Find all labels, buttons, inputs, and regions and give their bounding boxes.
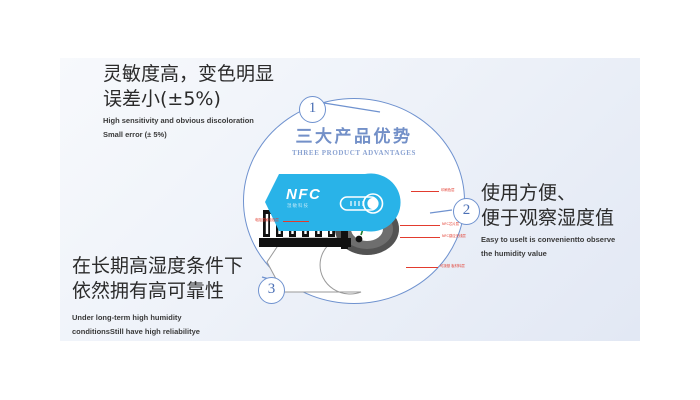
center-title-cn: 三大产品优势 (243, 127, 465, 147)
advantage-1-en-line2: Small error (± 5%) (103, 130, 274, 140)
advantage-block-high-sensitivity: 灵敏度高，变色明显 误差小(±5%) High sensitivity and … (103, 62, 274, 140)
center-title-en: THREE PRODUCT ADVANTAGES (243, 149, 465, 157)
advantage-block-easy-to-use: 使用方便、 便于观察湿度值 Easy to uselt is convenien… (481, 181, 615, 259)
callout-line-substrate (406, 267, 438, 268)
callout-top-layer: 印刷色层 (441, 188, 455, 192)
callout-chip: NFC芯片层 (442, 222, 459, 226)
callout-line-top-layer (411, 191, 439, 192)
advantage-2-cn-line2: 便于观察湿度值 (481, 206, 615, 231)
nfc-card-layer: NFC 湿敏科技 (265, 174, 401, 232)
callout-antenna: NFC感应天线层 (442, 234, 466, 238)
badge-3[interactable]: 3 (258, 277, 285, 304)
callout-substrate: 可挠基 板材料层 (440, 264, 465, 268)
advantage-block-high-reliability: 在长期高湿度条件下 依然拥有高可靠性 Under long-term high … (72, 254, 243, 337)
advantage-3-cn-line2: 依然拥有高可靠性 (72, 279, 243, 304)
callout-sensor-trace: 电阻湿敏电极层 (255, 218, 279, 222)
advantage-3-en-line1: Under long-term high humidity (72, 313, 243, 323)
advantage-1-cn-line2: 误差小(±5%) (103, 87, 274, 112)
callout-line-antenna (400, 237, 440, 238)
svg-text:NFC: NFC (286, 186, 321, 203)
advantage-3-cn-line1: 在长期高湿度条件下 (72, 254, 243, 279)
svg-text:湿敏科技: 湿敏科技 (287, 202, 309, 209)
badge-2[interactable]: 2 (453, 198, 480, 225)
advantage-3-en-line2: conditionsStill have high reliabilitye (72, 327, 243, 337)
slide-canvas: 三大产品优势 THREE PRODUCT ADVANTAGES (0, 0, 700, 400)
advantage-2-cn-line1: 使用方便、 (481, 181, 615, 206)
callout-line-chip (400, 225, 440, 226)
advantage-2-en-line1: Easy to uselt is convenientto observe (481, 235, 615, 245)
center-title: 三大产品优势 THREE PRODUCT ADVANTAGES (243, 127, 465, 157)
advantage-2-en-line2: the humidity value (481, 249, 615, 259)
badge-1[interactable]: 1 (299, 96, 326, 123)
callout-line-sensor-trace (283, 221, 309, 222)
advantage-1-cn-line1: 灵敏度高，变色明显 (103, 62, 274, 87)
advantage-1-en-line1: High sensitivity and obvious discolorati… (103, 116, 274, 126)
